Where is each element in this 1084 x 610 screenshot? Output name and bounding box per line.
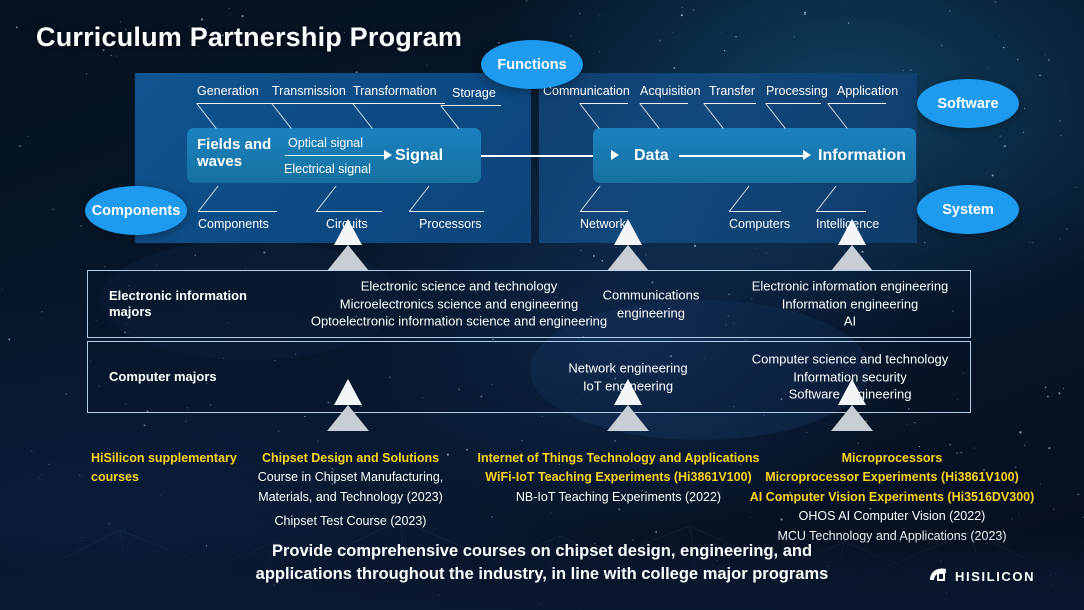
hisilicon-wordmark: HISILICON [955,569,1035,584]
term-storage: Storage [452,86,496,100]
page-title: Curriculum Partnership Program [36,22,462,53]
callout-components[interactable]: Components [85,186,187,235]
row-tag-computer-majors: Computer majors [109,369,269,385]
electronic-information-majors-row: Electronic information majors Electronic… [87,270,971,338]
term-transformation: Transformation [353,84,437,98]
data-to-information-line [679,155,803,157]
tick-components [198,211,277,212]
node-data: Data [634,147,669,165]
tick-circuits [316,211,382,212]
tick-transfer [704,103,756,104]
term-transmission: Transmission [272,84,346,98]
course-group-chipset: Chipset Design and Solutions Course in C… [248,449,453,532]
term-acquisition: Acquisition [640,84,700,98]
tick-storage [441,105,501,106]
term-processors: Processors [419,217,482,231]
tick-acquisition [640,103,688,104]
slide-canvas: Curriculum Partnership Program Fields an… [0,0,1084,610]
tick-processing [766,103,821,104]
callout-functions[interactable]: Functions [481,40,583,89]
tick-processors [409,211,484,212]
hisilicon-logo: HISILICON [928,566,1035,586]
footer-summary: Provide comprehensive courses on chipset… [0,540,1084,587]
edge-label-optical-signal: Optical signal [288,136,363,150]
fields-to-signal-arrowhead [384,150,392,160]
row-tag-electronic-information: Electronic information majors [109,288,269,321]
tick-network [580,211,628,212]
tick-generation [197,103,277,104]
term-application: Application [837,84,898,98]
course-group-hisilicon: HiSilicon supplementary courses [91,449,271,488]
tick-computers [729,211,781,212]
fields-to-signal-line [285,155,384,156]
node-signal: Signal [395,147,443,165]
node-fields-and-waves: Fields and waves [197,137,271,170]
tick-transformation [353,103,445,104]
term-processing: Processing [766,84,828,98]
tick-transmission [272,103,356,104]
edge-label-electrical-signal: Electrical signal [284,162,371,176]
into-data-arrowhead [611,150,619,160]
course-group-iot: Internet of Things Technology and Applic… [466,449,771,507]
callout-system[interactable]: System [917,185,1019,234]
callout-software[interactable]: Software [917,79,1019,128]
hisilicon-mark-icon [928,566,950,586]
signal-to-data-connector [481,155,605,157]
term-components: Components [198,217,269,231]
tick-intelligence [816,211,866,212]
term-transfer: Transfer [709,84,755,98]
node-information: Information [818,147,906,165]
ei-column-2: Communications engineering [556,286,746,321]
term-generation: Generation [197,84,259,98]
tick-application [828,103,886,104]
tick-communication [580,103,628,104]
data-to-information-arrowhead [803,150,811,160]
term-computers: Computers [729,217,790,231]
ei-column-3: Electronic information engineering Infor… [730,278,970,331]
